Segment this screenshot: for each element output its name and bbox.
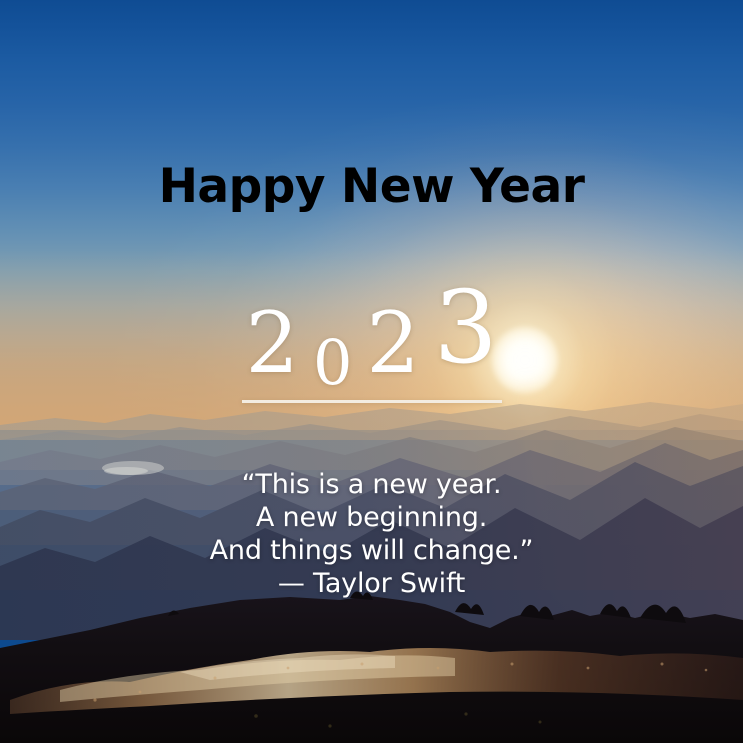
horizontal-divider	[242, 400, 502, 403]
quote-block: “This is a new year. A new beginning. An…	[0, 468, 743, 600]
year-digit-3: 2	[366, 301, 419, 385]
year-digit-4: 3	[434, 278, 498, 378]
page-title: Happy New Year	[0, 163, 743, 210]
year-digit-1: 2	[246, 301, 299, 385]
quote-line-2: A new beginning.	[0, 501, 743, 534]
quote-attribution: — Taylor Swift	[0, 567, 743, 600]
year-digit-2: 0	[313, 332, 352, 394]
quote-line-3: And things will change.”	[0, 534, 743, 567]
quote-line-1: “This is a new year.	[0, 468, 743, 501]
year-display: 2023	[0, 288, 743, 388]
new-year-greeting-card: Happy New Year 2023 “This is a new year.…	[0, 0, 743, 743]
